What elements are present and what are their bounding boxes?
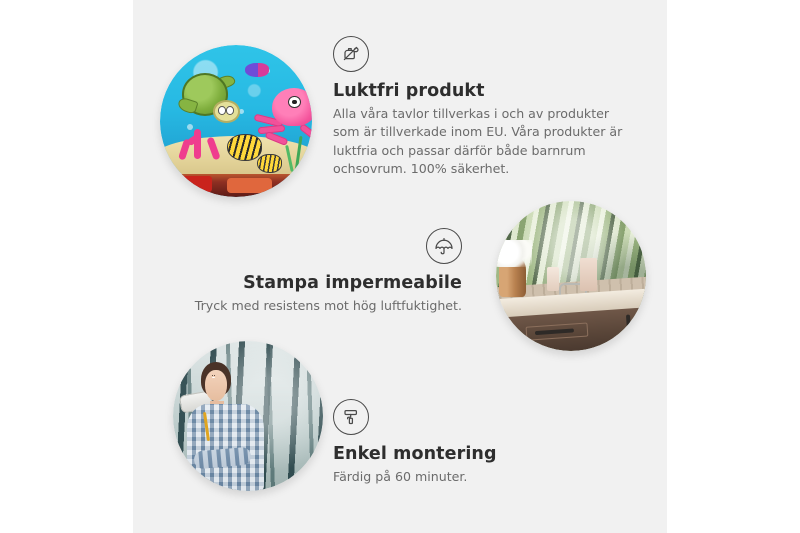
white-flowers bbox=[496, 240, 532, 267]
photo-bathroom-tropical: Badrum med grön tropisk tapet och trämöb… bbox=[496, 201, 646, 351]
soap-bottle bbox=[547, 267, 559, 291]
octopus-illustration bbox=[257, 88, 312, 149]
feature-waterproof: Stampa impermeabile Tryck med resistens … bbox=[190, 228, 462, 315]
yellow-fish-icon bbox=[227, 134, 262, 160]
paint-roller-icon bbox=[333, 399, 369, 435]
umbrella-icon bbox=[426, 228, 462, 264]
feature-easy-mounting: Enkel montering Färdig på 60 minuter. bbox=[333, 399, 593, 486]
photo-woman-paint-roller: Kvinna med målarrulle framför skogstapet bbox=[173, 341, 323, 491]
feature-description: Alla våra tavlor tillverkas i och av pro… bbox=[333, 105, 633, 179]
woman-illustration bbox=[182, 359, 269, 491]
no-fragrance-icon bbox=[333, 36, 369, 72]
feature-odour-free: Luktfri produkt Alla våra tavlor tillver… bbox=[333, 36, 633, 179]
feature-description: Färdig på 60 minuter. bbox=[333, 468, 593, 486]
purple-fish-icon bbox=[245, 63, 269, 77]
product-feature-banner: Undervattensmotiv med sköldpadda, bläckf… bbox=[0, 0, 800, 533]
soap-dispenser bbox=[580, 258, 597, 291]
feature-title: Stampa impermeabile bbox=[190, 273, 462, 293]
photo-underwater-scene: Undervattensmotiv med sköldpadda, bläckf… bbox=[160, 45, 312, 197]
feature-description: Tryck med resistens mot hög luftfuktighe… bbox=[190, 297, 462, 315]
feature-title: Enkel montering bbox=[333, 444, 593, 464]
feature-title: Luktfri produkt bbox=[333, 81, 633, 101]
photo-bottom-strip bbox=[160, 174, 312, 197]
coral-illustration bbox=[175, 127, 221, 167]
turtle-illustration bbox=[178, 72, 242, 124]
yellow-fish-icon bbox=[257, 154, 282, 173]
